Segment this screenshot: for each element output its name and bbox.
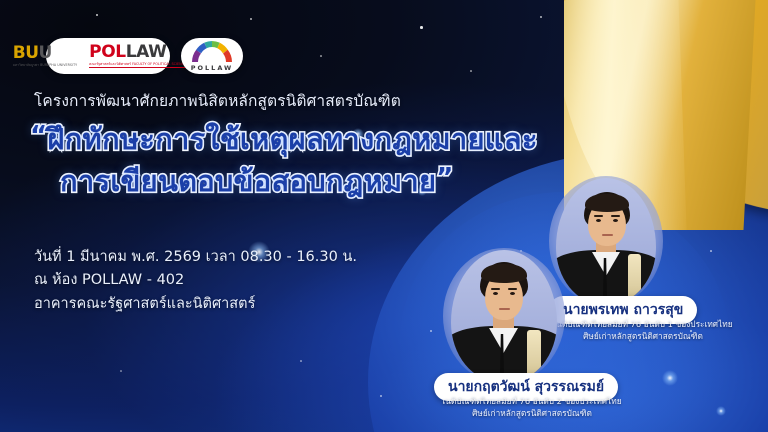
rainbow-logo-label: POLLAW xyxy=(191,64,233,72)
headline-block: “ฝึกทักษะการใช้เหตุผลทางกฎหมายและ การเขี… xyxy=(30,118,610,202)
close-quote: ” xyxy=(436,163,453,193)
project-subtitle: โครงการพัฒนาศักยภาพนิสิตหลักสูตรนิติศาสต… xyxy=(34,88,401,113)
rainbow-arc-icon xyxy=(190,41,234,63)
pollaw-pol-text: POL xyxy=(89,42,126,62)
headline-line-1: “ฝึกทักษะการใช้เหตุผลทางกฎหมายและ xyxy=(30,118,610,160)
speaker-2-caption-line-2: ศิษย์เก่าหลักสูตรนิติศาสตรบัณฑิต xyxy=(412,407,652,419)
pollaw-rainbow-logo: POLLAW xyxy=(181,38,243,74)
pollaw-law-text: LAW xyxy=(126,42,167,62)
event-datetime: วันที่ 1 มีนาคม พ.ศ. 2569 เวลา 08.30 - 1… xyxy=(34,246,357,269)
headline-line-1-text: ฝึกทักษะการใช้เหตุผลทางกฎหมายและ xyxy=(47,122,537,156)
speaker-1-photo xyxy=(556,178,656,304)
buu-subtitle: มหาวิทยาลัยบูรพา BURAPHA UNIVERSITY xyxy=(13,64,77,67)
buu-wordmark: BUU มหาวิทยาลัยบูรพา BURAPHA UNIVERSITY xyxy=(13,45,77,67)
event-building: อาคารคณะรัฐศาสตร์และนิติศาสตร์ xyxy=(34,293,357,316)
poster-canvas: BUU มหาวิทยาลัยบูรพา BURAPHA UNIVERSITY … xyxy=(0,0,768,432)
buu-pollaw-logo: BUU มหาวิทยาลัยบูรพา BURAPHA UNIVERSITY … xyxy=(46,38,170,74)
buu-letters-bu: BU xyxy=(13,43,39,63)
headline-line-2: การเขียนตอบข้อสอบกฎหมาย” xyxy=(30,160,610,202)
open-quote: “ xyxy=(30,121,47,151)
speaker-2-caption: เนติบัณฑิตไทยสมัยที่ 76 อันดับ 2 ของประเ… xyxy=(412,395,652,419)
speaker-2-photo xyxy=(451,250,557,382)
event-room: ณ ห้อง POLLAW - 402 xyxy=(34,269,357,292)
speaker-2-caption-line-1: เนติบัณฑิตไทยสมัยที่ 76 อันดับ 2 ของประเ… xyxy=(412,395,652,407)
logo-row: BUU มหาวิทยาลัยบูรพา BURAPHA UNIVERSITY … xyxy=(46,38,243,74)
headline-line-2-text: การเขียนตอบข้อสอบกฎหมาย xyxy=(60,164,436,198)
buu-letter-u: U xyxy=(39,43,52,63)
event-details: วันที่ 1 มีนาคม พ.ศ. 2569 เวลา 08.30 - 1… xyxy=(34,246,357,316)
